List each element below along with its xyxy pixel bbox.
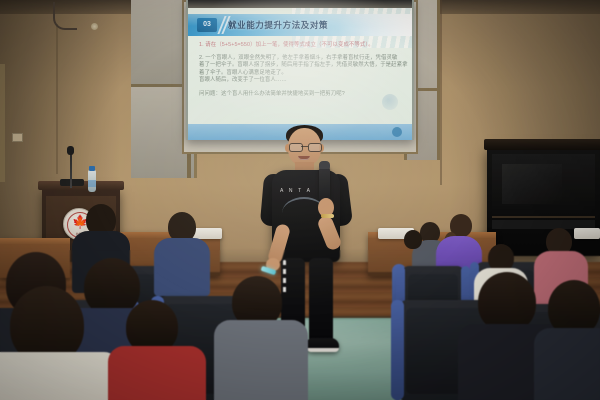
wall-seam — [440, 0, 442, 185]
wall-socket — [12, 133, 23, 142]
slide-line-3: 着了一把伞子。盲眼人拐了拐步，随后用手指了指左手，凭借灵敏然大悟，于是赶紧拿 — [199, 62, 399, 70]
attendee-body — [0, 352, 120, 400]
handheld-microphone — [319, 166, 330, 202]
wall-cable-seam — [56, 24, 58, 174]
cable-hook-icon — [53, 2, 77, 30]
slide-watermark-icon — [382, 94, 398, 110]
slide-header-bar: 03 就业能力提升方法及对策 — [188, 14, 412, 36]
piano-front-panel — [492, 154, 595, 218]
attendee-body — [154, 238, 210, 296]
pant-stripe — [283, 260, 286, 294]
upright-piano — [487, 148, 600, 256]
wall-speaker-icon — [91, 23, 98, 30]
piano-reflection — [502, 164, 562, 204]
attendee-body — [534, 328, 600, 400]
slide-line-5: 盲眼人随后，改变手了一位盲人…… — [199, 77, 399, 85]
lecture-hall-photo: 03 就业能力提升方法及对策 1. 请在（5+5+5=550）加上一笔，使得等式… — [0, 0, 600, 400]
water-bottle — [88, 170, 96, 192]
presentation-slide: 03 就业能力提升方法及对策 1. 请在（5+5+5=550）加上一笔，使得等式… — [188, 8, 412, 140]
slide-line-1: 1. 请在（5+5+5=550）加上一笔，使得等式成立（不可以变成不等式）。 — [199, 42, 399, 50]
attendee-head — [478, 272, 536, 332]
attendee-head — [404, 230, 422, 249]
slide-body: 1. 请在（5+5+5=550）加上一笔，使得等式成立（不可以变成不等式）。 2… — [199, 42, 399, 99]
microphone-head-icon — [67, 146, 74, 155]
door-frame — [0, 64, 5, 182]
glasses-bridge — [301, 146, 308, 147]
gooseneck-microphone — [70, 152, 72, 188]
lens-left — [289, 143, 303, 152]
slide-line-6: 问问题：这个盲人用什么办法简单并快捷地买到一把剪刀呢? — [199, 91, 399, 99]
shirt-text: A N T A — [280, 188, 312, 194]
slide-header-fade — [338, 14, 412, 36]
attendee-body — [108, 346, 206, 400]
white-package-far-right — [574, 228, 600, 239]
chair-side-left — [391, 300, 404, 400]
eyeglasses-icon — [288, 143, 321, 150]
attendee-body — [214, 320, 308, 400]
slide-footer-logo-icon — [392, 127, 402, 137]
shoe-sole — [307, 348, 339, 352]
lens-right — [308, 143, 322, 152]
projection-screen: 03 就业能力提升方法及对策 1. 请在（5+5+5=550）加上一笔，使得等式… — [186, 0, 414, 140]
piano-lid — [484, 139, 600, 150]
bottle-label — [88, 180, 96, 187]
slide-title: 就业能力提升方法及对策 — [228, 18, 328, 33]
microphone-base — [60, 179, 84, 186]
desk-surface — [0, 238, 70, 244]
screen-roller — [188, 0, 412, 8]
slide-section-number: 03 — [197, 18, 217, 32]
bottle-cap-icon — [89, 166, 95, 171]
microphone-capsule-icon — [319, 161, 330, 169]
leg-right — [309, 258, 333, 342]
shoe-right — [307, 338, 339, 352]
wristwatch-icon — [321, 214, 334, 218]
maple-leaf-icon: 🍁 — [72, 215, 86, 229]
